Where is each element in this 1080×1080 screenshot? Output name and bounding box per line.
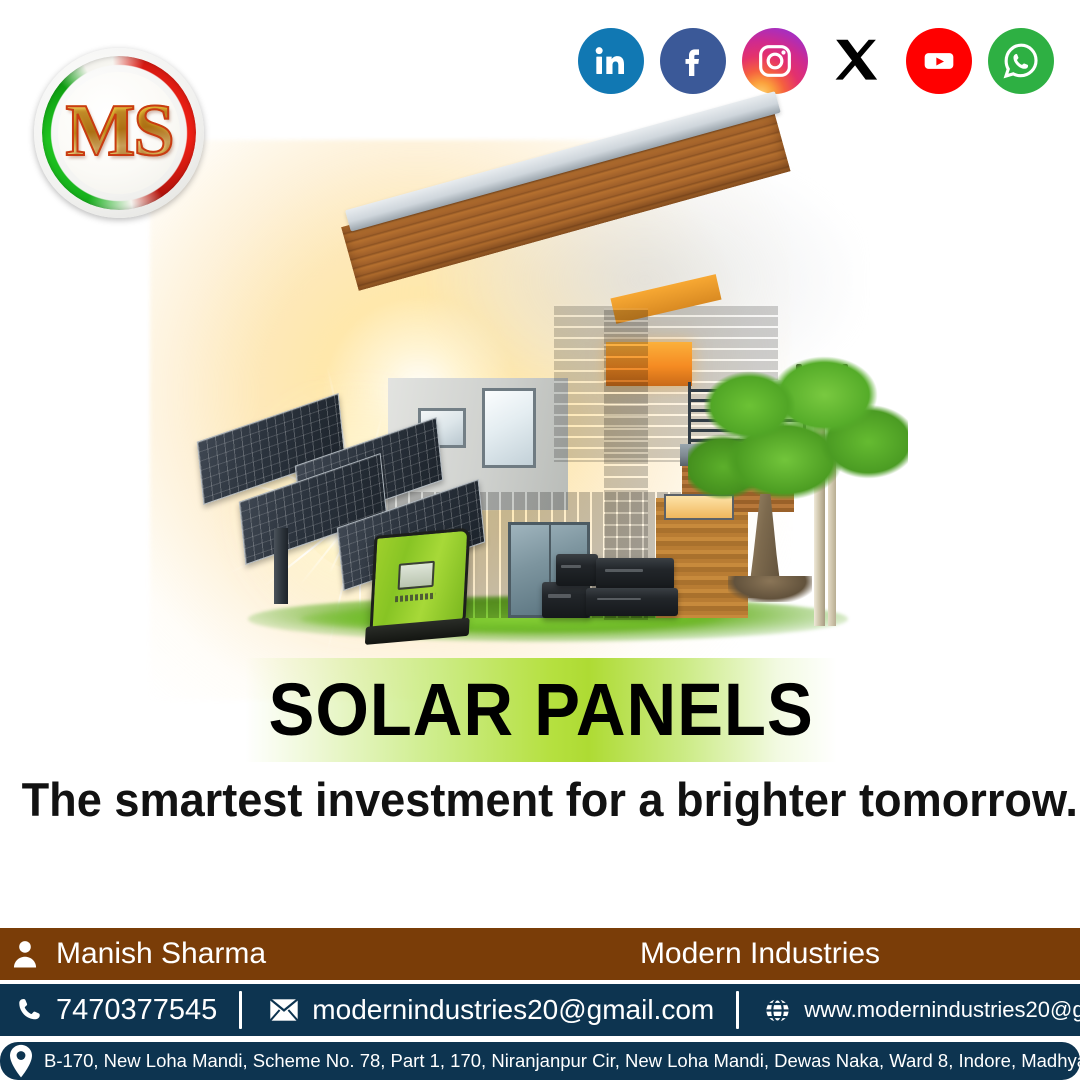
website-url: www.modernindustries20@gmail.com [804,997,1080,1023]
linkedin-icon[interactable] [578,28,644,94]
solar-panels-promo-poster: MS [0,0,1080,1080]
address-bar: B-170, New Loha Mandi, Scheme No. 78, Pa… [0,1042,1080,1080]
facebook-icon[interactable] [660,28,726,94]
social-media-icon-row [578,28,1054,94]
owner-name: Manish Sharma [56,937,266,971]
address-text: B-170, New Loha Mandi, Scheme No. 78, Pa… [44,1050,1080,1072]
phone-number: 7470377545 [56,994,217,1027]
solar-array-mast [274,528,288,604]
tagline-text: The smartest investment for a brighter t… [22,776,1059,823]
headline-banner: SOLAR PANELS [245,658,837,762]
battery-unit [556,554,598,586]
tree [688,348,908,608]
hero-illustration [0,150,1080,660]
x-twitter-icon[interactable] [824,28,890,94]
whatsapp-icon[interactable] [988,28,1054,94]
page-title: SOLAR PANELS [268,673,813,747]
email-contact[interactable]: modernindustries20@gmail.com [242,984,714,1036]
inverter-display-screen [398,561,435,590]
logo-text: MS [66,94,173,168]
solar-inverter-unit [370,527,471,630]
phone-icon [16,996,44,1024]
battery-unit [542,582,590,618]
contact-bar: 7470377545 modernindustries20@gmail.com [0,984,1080,1036]
footer: Manish Sharma Modern Industries 74703775… [0,928,1080,1080]
instagram-icon[interactable] [742,28,808,94]
globe-icon [763,996,792,1025]
person-icon [8,937,42,971]
envelope-icon [268,997,300,1023]
email-address: modernindustries20@gmail.com [312,994,714,1026]
youtube-icon[interactable] [906,28,972,94]
location-pin-icon [6,1044,36,1078]
tree-canopy [688,348,908,528]
phone-contact[interactable]: 7470377545 [0,984,217,1036]
house-window-tall [482,388,536,468]
battery-unit [596,558,674,590]
owner-name-bar: Manish Sharma Modern Industries [0,928,1080,980]
tree-roots [728,576,812,602]
battery-unit [586,588,678,616]
website-contact[interactable]: www.modernindustries20@gmail.com [739,984,1080,1036]
